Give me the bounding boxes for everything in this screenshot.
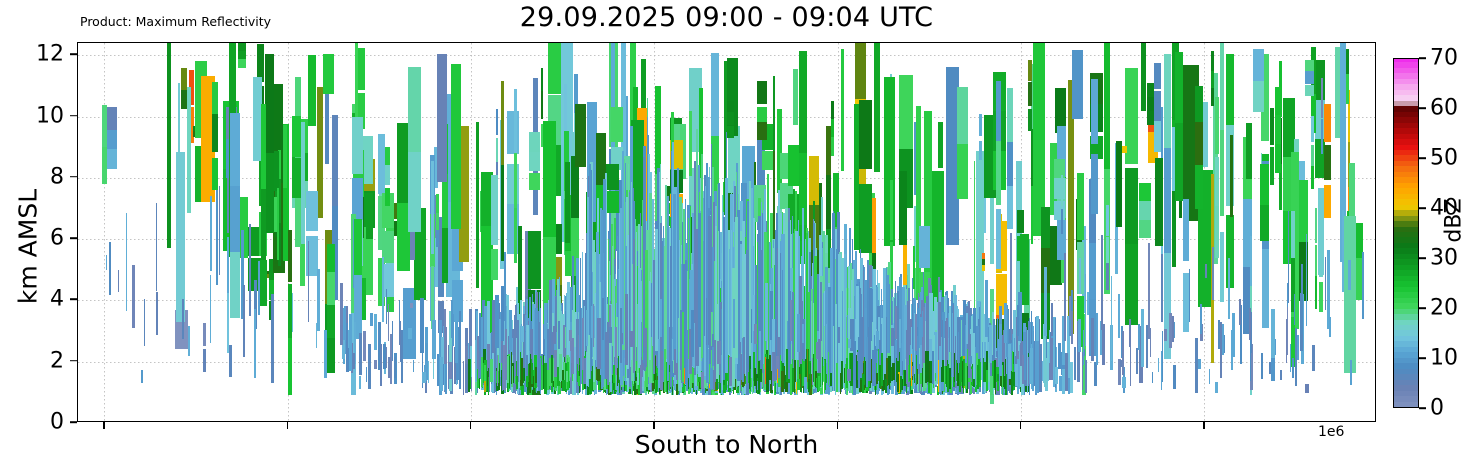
reflectivity-cell xyxy=(440,357,443,391)
reflectivity-cell xyxy=(385,162,390,185)
y-tick-mark xyxy=(70,176,77,178)
reflectivity-cell xyxy=(107,148,118,168)
reflectivity-cell xyxy=(1212,247,1214,300)
reflectivity-cell xyxy=(1004,303,1007,343)
reflectivity-cell xyxy=(535,367,537,384)
reflectivity-cell xyxy=(714,340,716,382)
reflectivity-cell xyxy=(822,357,824,385)
reflectivity-cell xyxy=(383,344,386,368)
colorbar-band xyxy=(1394,308,1418,314)
reflectivity-cell xyxy=(511,352,512,384)
reflectivity-cell xyxy=(793,69,799,125)
reflectivity-cell xyxy=(1209,369,1211,384)
reflectivity-cell xyxy=(745,376,747,384)
reflectivity-cells xyxy=(78,43,1375,421)
reflectivity-cell xyxy=(401,330,404,383)
reflectivity-cell xyxy=(476,122,479,289)
reflectivity-cell xyxy=(449,362,452,380)
reflectivity-cell xyxy=(1226,54,1233,125)
reflectivity-cell xyxy=(660,370,663,391)
reflectivity-cell xyxy=(609,327,612,343)
reflectivity-cell xyxy=(359,333,362,375)
colorbar-band xyxy=(1394,368,1418,374)
reflectivity-cell xyxy=(838,327,840,343)
reflectivity-cell xyxy=(1324,145,1332,180)
reflectivity-cell xyxy=(413,360,414,372)
reflectivity-cell xyxy=(667,196,669,381)
reflectivity-cell xyxy=(455,322,458,364)
y-axis-label: km AMSL xyxy=(14,127,43,367)
reflectivity-cell xyxy=(824,360,825,393)
reflectivity-cell xyxy=(727,126,734,138)
reflectivity-cell xyxy=(1104,43,1110,169)
reflectivity-cell xyxy=(938,122,943,169)
reflectivity-cell xyxy=(181,68,187,90)
reflectivity-cell xyxy=(1324,104,1332,143)
reflectivity-cell xyxy=(958,332,959,373)
reflectivity-cell xyxy=(1169,313,1172,348)
reflectivity-cell xyxy=(354,219,363,275)
reflectivity-cell xyxy=(1232,313,1235,357)
reflectivity-cell xyxy=(777,109,782,193)
reflectivity-cell xyxy=(1205,264,1207,278)
reflectivity-cell xyxy=(757,122,767,140)
y-tick-label: 6 xyxy=(50,226,64,251)
colorbar-band xyxy=(1394,390,1418,396)
reflectivity-cell xyxy=(495,295,498,347)
reflectivity-cell xyxy=(1146,325,1148,368)
reflectivity-cell xyxy=(1164,329,1167,341)
reflectivity-cell xyxy=(509,310,512,350)
reflectivity-cell xyxy=(1299,180,1308,242)
reflectivity-cell xyxy=(1069,296,1071,320)
reflectivity-cell xyxy=(1203,102,1208,166)
reflectivity-cell xyxy=(132,265,135,328)
colorbar-gradient xyxy=(1393,58,1419,408)
colorbar-band xyxy=(1394,363,1418,369)
colorbar-band xyxy=(1394,160,1418,166)
colorbar-band xyxy=(1394,204,1418,210)
reflectivity-cell xyxy=(1106,237,1109,263)
reflectivity-cell xyxy=(1125,241,1138,325)
colorbar-tick-label: 70 xyxy=(1430,46,1458,71)
reflectivity-cell xyxy=(1321,78,1323,118)
reflectivity-cell xyxy=(1224,335,1225,353)
colorbar-band xyxy=(1394,177,1418,183)
reflectivity-cell xyxy=(1228,258,1230,319)
x-axis-label: South to North xyxy=(77,430,1376,459)
reflectivity-cell xyxy=(1094,362,1097,386)
reflectivity-cell xyxy=(352,353,355,369)
reflectivity-cell xyxy=(1079,258,1081,294)
reflectivity-cell xyxy=(914,122,916,195)
reflectivity-cell xyxy=(521,385,523,395)
reflectivity-cell xyxy=(254,309,256,378)
reflectivity-cell xyxy=(847,315,849,338)
reflectivity-cell xyxy=(575,104,586,168)
reflectivity-cell xyxy=(674,349,676,375)
y-tick-mark xyxy=(70,421,77,423)
reflectivity-cell xyxy=(869,288,871,342)
reflectivity-cell xyxy=(698,213,701,346)
reflectivity-cell xyxy=(1220,126,1224,216)
reflectivity-cell xyxy=(1102,324,1105,365)
reflectivity-cell xyxy=(230,113,240,186)
colorbar-band xyxy=(1394,357,1418,363)
reflectivity-cell xyxy=(763,369,764,388)
reflectivity-cell xyxy=(615,327,617,375)
y-tick-label: 2 xyxy=(50,348,64,373)
x-tick-mark xyxy=(470,422,472,429)
reflectivity-cell xyxy=(436,194,440,213)
reflectivity-cell xyxy=(1058,343,1061,369)
colorbar xyxy=(1393,58,1419,408)
reflectivity-cell xyxy=(790,364,792,395)
reflectivity-cell xyxy=(982,258,985,265)
reflectivity-cell xyxy=(374,314,376,350)
reflectivity-cell xyxy=(593,304,594,348)
reflectivity-cell xyxy=(996,140,1000,205)
reflectivity-cell xyxy=(490,359,493,382)
reflectivity-cell xyxy=(962,370,963,388)
reflectivity-cell xyxy=(754,368,756,386)
colorbar-band xyxy=(1394,264,1418,270)
reflectivity-cell xyxy=(488,377,489,394)
reflectivity-cell xyxy=(1286,319,1287,363)
reflectivity-cell xyxy=(1089,240,1096,299)
reflectivity-cell xyxy=(238,50,247,59)
reflectivity-cell xyxy=(238,43,247,51)
reflectivity-cell xyxy=(1096,313,1098,365)
reflectivity-cell xyxy=(644,347,646,371)
reflectivity-cell xyxy=(442,228,449,283)
reflectivity-cell xyxy=(479,378,480,390)
colorbar-tick-mark xyxy=(1419,357,1426,359)
reflectivity-cell xyxy=(374,360,377,369)
reflectivity-cell xyxy=(283,125,287,188)
reflectivity-cell xyxy=(1195,86,1203,122)
reflectivity-cell xyxy=(1071,290,1073,310)
reflectivity-cell xyxy=(324,330,327,379)
reflectivity-cell xyxy=(210,196,212,270)
reflectivity-cell xyxy=(664,349,666,391)
reflectivity-cell xyxy=(941,337,942,367)
colorbar-band xyxy=(1394,286,1418,292)
reflectivity-cell xyxy=(757,81,767,104)
reflectivity-cell xyxy=(188,326,190,356)
reflectivity-cell xyxy=(1280,370,1282,380)
reflectivity-cell xyxy=(566,371,568,382)
reflectivity-cell xyxy=(1312,345,1315,371)
reflectivity-cell xyxy=(332,115,338,206)
reflectivity-cell xyxy=(459,311,461,389)
reflectivity-cell xyxy=(529,363,530,393)
reflectivity-cell xyxy=(996,209,1000,269)
reflectivity-cell xyxy=(629,331,633,347)
colorbar-tick-mark xyxy=(1419,257,1426,259)
reflectivity-cell xyxy=(1220,232,1224,302)
reflectivity-cell xyxy=(860,317,863,359)
reflectivity-cell xyxy=(370,313,372,326)
colorbar-band xyxy=(1394,346,1418,352)
reflectivity-cell xyxy=(790,300,792,341)
colorbar-band xyxy=(1394,341,1418,347)
reflectivity-cell xyxy=(841,371,842,388)
reflectivity-cell xyxy=(1155,158,1162,246)
colorbar-band xyxy=(1394,89,1418,95)
reflectivity-cell xyxy=(1031,179,1033,243)
reflectivity-cell xyxy=(102,105,107,147)
reflectivity-cell xyxy=(673,194,676,360)
reflectivity-cell xyxy=(182,299,184,339)
reflectivity-cell xyxy=(966,313,969,343)
reflectivity-cell xyxy=(484,381,486,392)
reflectivity-cell xyxy=(445,363,447,394)
reflectivity-cell xyxy=(982,253,985,260)
reflectivity-cell xyxy=(491,175,498,209)
y-tick-label: 4 xyxy=(50,287,64,312)
reflectivity-cell xyxy=(591,170,592,371)
reflectivity-cell xyxy=(606,191,619,214)
reflectivity-cell xyxy=(999,324,1002,376)
colorbar-band xyxy=(1394,73,1418,79)
reflectivity-cell xyxy=(514,149,517,208)
reflectivity-cell xyxy=(1195,338,1198,393)
colorbar-band xyxy=(1394,303,1418,309)
colorbar-band xyxy=(1394,281,1418,287)
radar-curtain-figure: Product: Maximum Reflectivity 29.09.2025… xyxy=(0,0,1482,470)
colorbar-band xyxy=(1394,330,1418,336)
reflectivity-cell xyxy=(210,275,211,343)
reflectivity-cell xyxy=(399,323,400,345)
reflectivity-cell xyxy=(569,330,572,341)
reflectivity-cell xyxy=(799,51,807,154)
colorbar-tick-label: 60 xyxy=(1430,96,1458,121)
reflectivity-cell xyxy=(261,184,267,261)
reflectivity-cell xyxy=(818,339,821,373)
reflectivity-cell xyxy=(609,339,611,382)
reflectivity-cell xyxy=(543,121,555,238)
reflectivity-cell xyxy=(1007,139,1013,185)
reflectivity-cell xyxy=(1183,199,1189,261)
reflectivity-cell xyxy=(660,299,663,337)
reflectivity-cell xyxy=(1175,117,1183,201)
reflectivity-cell xyxy=(855,43,866,99)
reflectivity-cell xyxy=(1215,97,1219,155)
x-tick-mark xyxy=(1203,422,1205,429)
reflectivity-cell xyxy=(1147,96,1154,111)
reflectivity-cell xyxy=(1294,294,1295,325)
reflectivity-cell xyxy=(109,242,112,296)
reflectivity-cell xyxy=(1035,341,1038,393)
reflectivity-cell xyxy=(759,331,761,360)
reflectivity-cell xyxy=(392,321,393,360)
reflectivity-cell xyxy=(558,321,560,349)
reflectivity-cell xyxy=(410,306,413,308)
reflectivity-cell xyxy=(1064,253,1066,341)
reflectivity-cell xyxy=(501,158,505,261)
reflectivity-cell xyxy=(340,283,343,325)
reflectivity-cell xyxy=(969,356,972,364)
reflectivity-cell xyxy=(346,323,347,372)
reflectivity-cell xyxy=(804,377,807,392)
colorbar-band xyxy=(1394,95,1418,101)
reflectivity-cell xyxy=(534,310,535,354)
reflectivity-cell xyxy=(985,280,989,338)
reflectivity-cell xyxy=(578,335,580,371)
reflectivity-cell xyxy=(1305,85,1314,96)
reflectivity-cell xyxy=(386,289,387,324)
reflectivity-cell xyxy=(899,171,907,245)
reflectivity-cell xyxy=(167,43,171,248)
reflectivity-cell xyxy=(308,55,316,125)
reflectivity-cell xyxy=(1261,353,1263,380)
reflectivity-cell xyxy=(671,338,672,392)
reflectivity-cell xyxy=(106,255,107,271)
reflectivity-cell xyxy=(408,328,411,340)
reflectivity-cell xyxy=(977,365,978,389)
reflectivity-cell xyxy=(845,364,846,389)
reflectivity-cell xyxy=(899,319,900,349)
reflectivity-cell xyxy=(541,68,543,91)
colorbar-band xyxy=(1394,395,1418,401)
reflectivity-cell xyxy=(1305,384,1309,393)
reflectivity-cell xyxy=(910,345,911,378)
reflectivity-cell xyxy=(717,341,720,363)
reflectivity-cell xyxy=(516,376,518,389)
reflectivity-cell xyxy=(259,260,267,305)
reflectivity-cell xyxy=(676,363,677,380)
reflectivity-cell xyxy=(249,224,250,317)
reflectivity-cell xyxy=(554,350,557,377)
reflectivity-cell xyxy=(1249,308,1250,339)
reflectivity-cell xyxy=(1062,369,1064,390)
reflectivity-cell xyxy=(359,376,362,389)
reflectivity-cell xyxy=(1091,318,1094,361)
reflectivity-cell xyxy=(1028,60,1032,81)
reflectivity-cell xyxy=(1318,188,1324,276)
reflectivity-cell xyxy=(955,336,957,388)
reflectivity-cell xyxy=(1262,246,1269,329)
colorbar-band xyxy=(1394,62,1418,68)
reflectivity-cell xyxy=(528,231,541,289)
reflectivity-cell xyxy=(828,352,829,385)
reflectivity-cell xyxy=(735,217,738,357)
reflectivity-cell xyxy=(971,369,972,382)
reflectivity-cell xyxy=(1218,320,1220,349)
plot-area xyxy=(77,42,1376,422)
reflectivity-cell xyxy=(141,370,142,383)
reflectivity-cell xyxy=(782,270,783,378)
reflectivity-cell xyxy=(477,369,478,388)
reflectivity-cell xyxy=(1074,347,1076,380)
reflectivity-cell xyxy=(107,107,118,129)
reflectivity-cell xyxy=(292,158,301,198)
reflectivity-cell xyxy=(762,151,774,170)
reflectivity-cell xyxy=(733,299,735,347)
reflectivity-cell xyxy=(919,226,929,268)
reflectivity-cell xyxy=(957,87,968,145)
reflectivity-cell xyxy=(144,299,145,347)
reflectivity-cell xyxy=(757,381,758,391)
reflectivity-cell xyxy=(491,249,498,280)
reflectivity-cell xyxy=(1246,123,1252,179)
x-tick-mark xyxy=(103,422,105,429)
reflectivity-cell xyxy=(701,154,704,358)
colorbar-band xyxy=(1394,67,1418,73)
reflectivity-cell xyxy=(885,379,887,393)
reflectivity-cell xyxy=(1130,346,1131,386)
reflectivity-cell xyxy=(847,369,850,381)
reflectivity-cell xyxy=(1031,344,1032,390)
reflectivity-cell xyxy=(990,376,993,395)
reflectivity-cell xyxy=(271,294,274,384)
reflectivity-cell xyxy=(1253,76,1264,112)
colorbar-band xyxy=(1394,133,1418,139)
x-tick-mark xyxy=(837,422,839,429)
reflectivity-cell xyxy=(797,314,800,351)
colorbar-band xyxy=(1394,220,1418,226)
reflectivity-cell xyxy=(388,357,390,377)
reflectivity-cell xyxy=(947,366,948,392)
reflectivity-cell xyxy=(1139,199,1152,220)
reflectivity-cell xyxy=(1141,43,1146,111)
reflectivity-cell xyxy=(258,261,260,315)
reflectivity-cell xyxy=(680,358,681,367)
reflectivity-cell xyxy=(872,350,875,386)
reflectivity-cell xyxy=(686,330,687,391)
reflectivity-cell xyxy=(919,364,920,393)
reflectivity-cell xyxy=(1033,43,1045,140)
reflectivity-cell xyxy=(836,363,837,392)
reflectivity-cell xyxy=(582,318,584,371)
y-tick-label: 10 xyxy=(36,103,64,128)
reflectivity-cell xyxy=(1017,210,1024,233)
colorbar-band xyxy=(1394,242,1418,248)
reflectivity-cell xyxy=(1053,345,1054,382)
colorbar-tick-mark xyxy=(1419,57,1426,59)
colorbar-tick-mark xyxy=(1419,207,1426,209)
reflectivity-cell xyxy=(1158,358,1159,373)
reflectivity-cell xyxy=(1101,235,1102,330)
reflectivity-cell xyxy=(1004,376,1005,388)
reflectivity-cell xyxy=(1007,88,1013,142)
reflectivity-cell xyxy=(306,191,319,231)
reflectivity-cell xyxy=(975,347,977,387)
colorbar-band xyxy=(1394,215,1418,221)
reflectivity-cell xyxy=(516,304,517,338)
reflectivity-cell xyxy=(1311,145,1314,165)
reflectivity-cell xyxy=(1215,157,1219,206)
reflectivity-cell xyxy=(501,81,505,165)
reflectivity-cell xyxy=(451,64,461,229)
reflectivity-cell xyxy=(820,282,821,340)
reflectivity-cell xyxy=(1270,108,1274,145)
reflectivity-cell xyxy=(553,326,556,343)
reflectivity-cell xyxy=(507,164,519,204)
reflectivity-cell xyxy=(916,106,921,300)
colorbar-band xyxy=(1394,292,1418,298)
reflectivity-cell xyxy=(772,319,775,352)
colorbar-tick-mark xyxy=(1419,307,1426,309)
y-tick-label: 8 xyxy=(50,164,64,189)
reflectivity-cell xyxy=(529,132,540,152)
x-tick-mark xyxy=(653,422,655,429)
reflectivity-cell xyxy=(1301,264,1303,334)
reflectivity-cell xyxy=(1091,154,1098,214)
reflectivity-cell xyxy=(1305,60,1314,72)
reflectivity-cell xyxy=(982,265,985,271)
